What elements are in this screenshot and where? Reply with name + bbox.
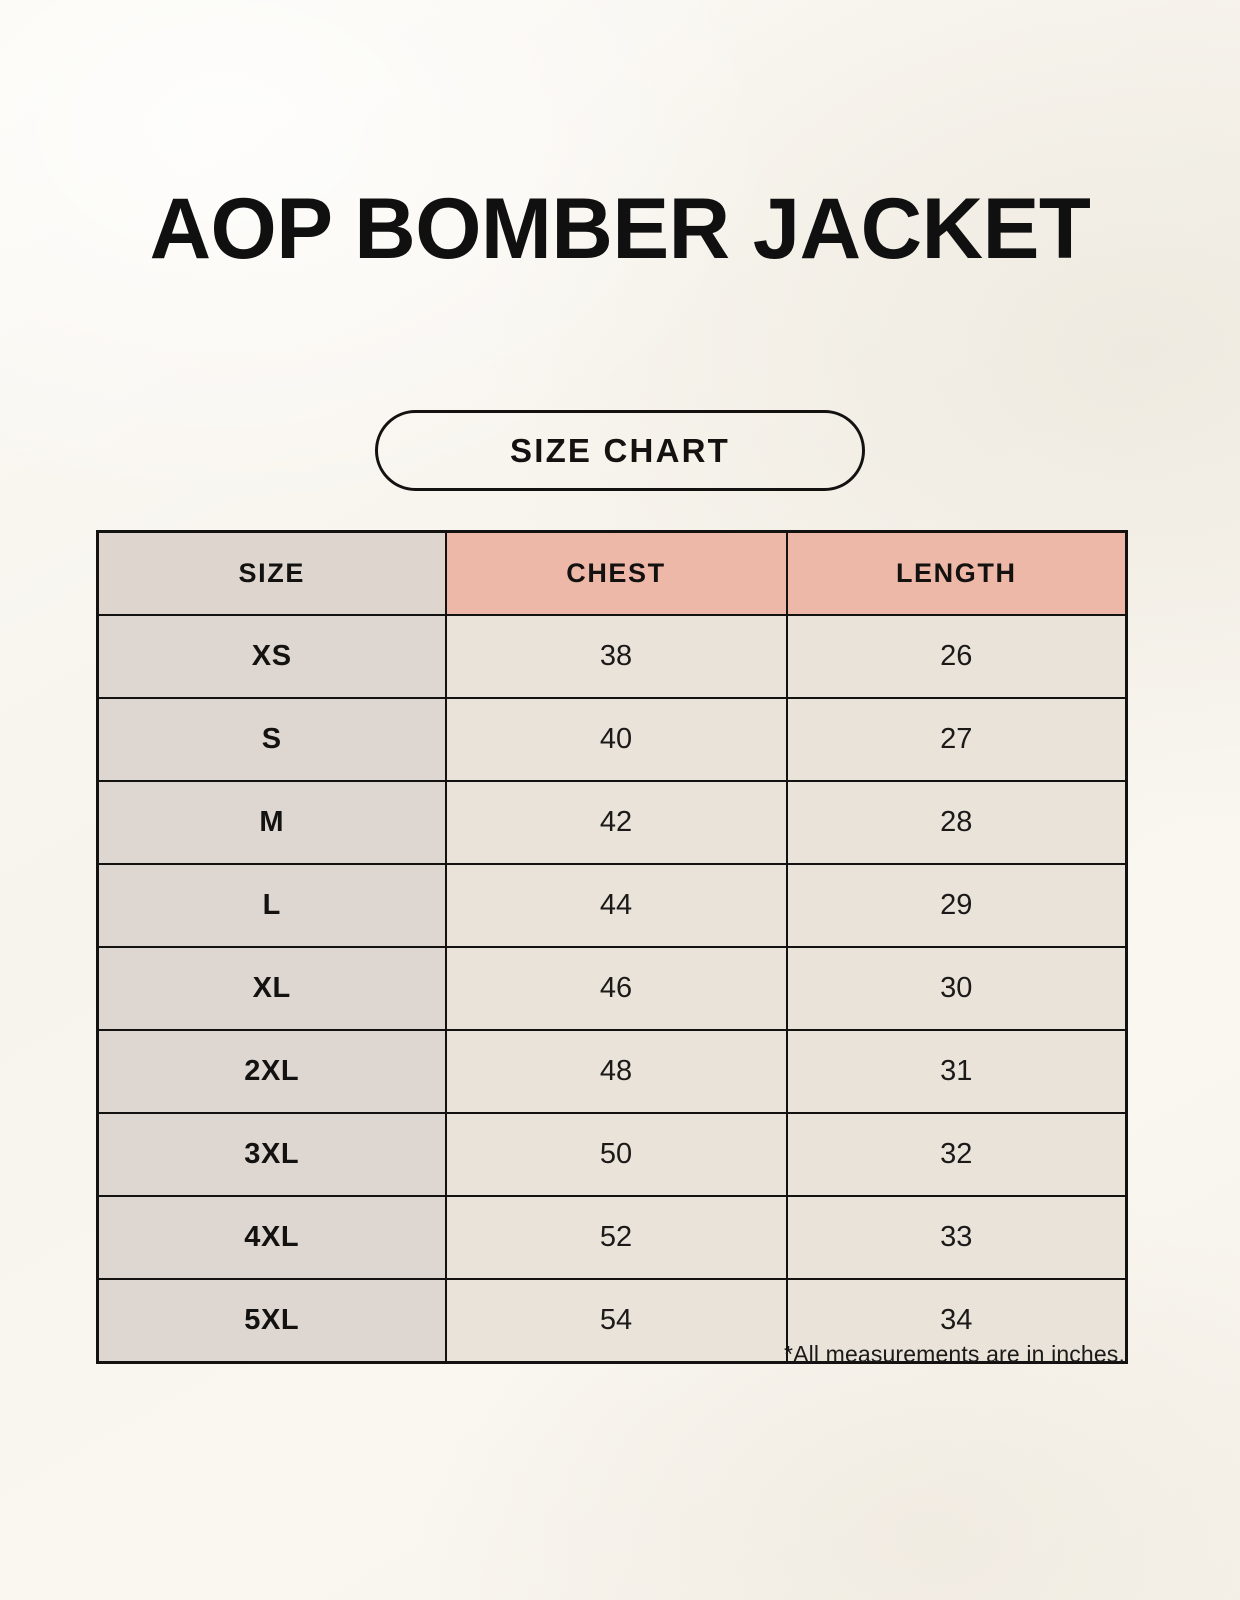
cell-length: 28 xyxy=(787,781,1127,864)
cell-length: 26 xyxy=(787,615,1127,698)
table-row: XS 38 26 xyxy=(98,615,1127,698)
badge-container: SIZE CHART xyxy=(0,410,1240,491)
cell-size: 3XL xyxy=(98,1113,446,1196)
page-title: AOP BOMBER JACKET xyxy=(6,188,1234,271)
cell-size: 2XL xyxy=(98,1030,446,1113)
size-table-container: SIZE CHEST LENGTH XS 38 26 S 40 27 M xyxy=(96,530,1125,1364)
size-chart-page: AOP BOMBER JACKET SIZE CHART SIZE CHEST … xyxy=(0,0,1240,1600)
cell-length: 27 xyxy=(787,698,1127,781)
cell-length: 31 xyxy=(787,1030,1127,1113)
cell-chest: 38 xyxy=(446,615,787,698)
cell-size: XL xyxy=(98,947,446,1030)
cell-size: L xyxy=(98,864,446,947)
cell-size: XS xyxy=(98,615,446,698)
cell-chest: 50 xyxy=(446,1113,787,1196)
table-row: 3XL 50 32 xyxy=(98,1113,1127,1196)
cell-length: 30 xyxy=(787,947,1127,1030)
cell-chest: 52 xyxy=(446,1196,787,1279)
cell-size: M xyxy=(98,781,446,864)
table-row: L 44 29 xyxy=(98,864,1127,947)
cell-chest: 54 xyxy=(446,1279,787,1363)
cell-length: 29 xyxy=(787,864,1127,947)
table-row: M 42 28 xyxy=(98,781,1127,864)
cell-chest: 48 xyxy=(446,1030,787,1113)
size-table: SIZE CHEST LENGTH XS 38 26 S 40 27 M xyxy=(96,530,1128,1364)
table-row: XL 46 30 xyxy=(98,947,1127,1030)
cell-size: 4XL xyxy=(98,1196,446,1279)
measurements-footnote: *All measurements are in inches. xyxy=(784,1341,1125,1368)
cell-chest: 46 xyxy=(446,947,787,1030)
table-row: 2XL 48 31 xyxy=(98,1030,1127,1113)
size-chart-badge-label: SIZE CHART xyxy=(510,432,730,470)
cell-size: 5XL xyxy=(98,1279,446,1363)
cell-size: S xyxy=(98,698,446,781)
cell-length: 32 xyxy=(787,1113,1127,1196)
cell-chest: 44 xyxy=(446,864,787,947)
cell-length: 33 xyxy=(787,1196,1127,1279)
table-row: S 40 27 xyxy=(98,698,1127,781)
size-chart-badge: SIZE CHART xyxy=(375,410,865,491)
table-body: XS 38 26 S 40 27 M 42 28 L 44 29 xyxy=(98,615,1127,1363)
column-header-size: SIZE xyxy=(98,532,446,616)
cell-chest: 42 xyxy=(446,781,787,864)
table-header: SIZE CHEST LENGTH xyxy=(98,532,1127,616)
column-header-length: LENGTH xyxy=(787,532,1127,616)
table-header-row: SIZE CHEST LENGTH xyxy=(98,532,1127,616)
column-header-chest: CHEST xyxy=(446,532,787,616)
table-row: 4XL 52 33 xyxy=(98,1196,1127,1279)
title-block: AOP BOMBER JACKET xyxy=(0,188,1240,271)
cell-chest: 40 xyxy=(446,698,787,781)
